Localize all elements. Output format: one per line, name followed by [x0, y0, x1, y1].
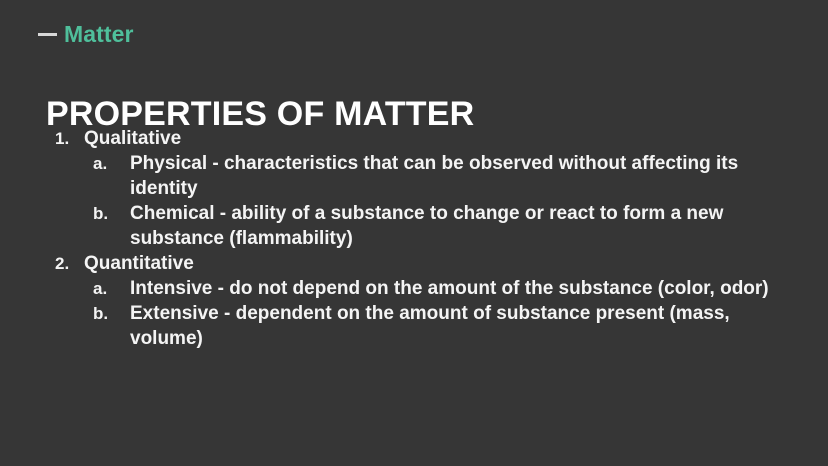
list-item-text: Chemical - ability of a substance to cha… — [130, 201, 790, 251]
sub-list: a. Physical - characteristics that can b… — [46, 151, 806, 251]
list-item: a. Intensive - do not depend on the amou… — [46, 276, 806, 301]
list-marker: 2. — [46, 251, 84, 276]
presentation-slide: Matter PROPERTIES OF MATTER 1. Qualitati… — [0, 0, 828, 466]
list-item-text: Physical - characteristics that can be o… — [130, 151, 790, 201]
list-item: 1. Qualitative — [46, 126, 806, 151]
list-item: b. Extensive - dependent on the amount o… — [46, 301, 806, 351]
outline-list: 1. Qualitative a. Physical - characteris… — [46, 126, 806, 351]
section-label: Matter — [38, 23, 134, 46]
sub-list: a. Intensive - do not depend on the amou… — [46, 276, 806, 351]
list-item: a. Physical - characteristics that can b… — [46, 151, 806, 201]
list-marker: b. — [46, 301, 130, 326]
list-item: b. Chemical - ability of a substance to … — [46, 201, 806, 251]
list-item-label: Qualitative — [84, 126, 181, 151]
list-item-text: Extensive - dependent on the amount of s… — [130, 301, 790, 351]
section-label-text: Matter — [64, 23, 134, 46]
list-marker: 1. — [46, 126, 84, 151]
list-marker: a. — [46, 151, 130, 176]
list-item-text: Intensive - do not depend on the amount … — [130, 276, 790, 301]
list-item-label: Quantitative — [84, 251, 194, 276]
em-dash-icon — [38, 33, 57, 36]
list-marker: b. — [46, 201, 130, 226]
list-marker: a. — [46, 276, 130, 301]
list-item: 2. Quantitative — [46, 251, 806, 276]
